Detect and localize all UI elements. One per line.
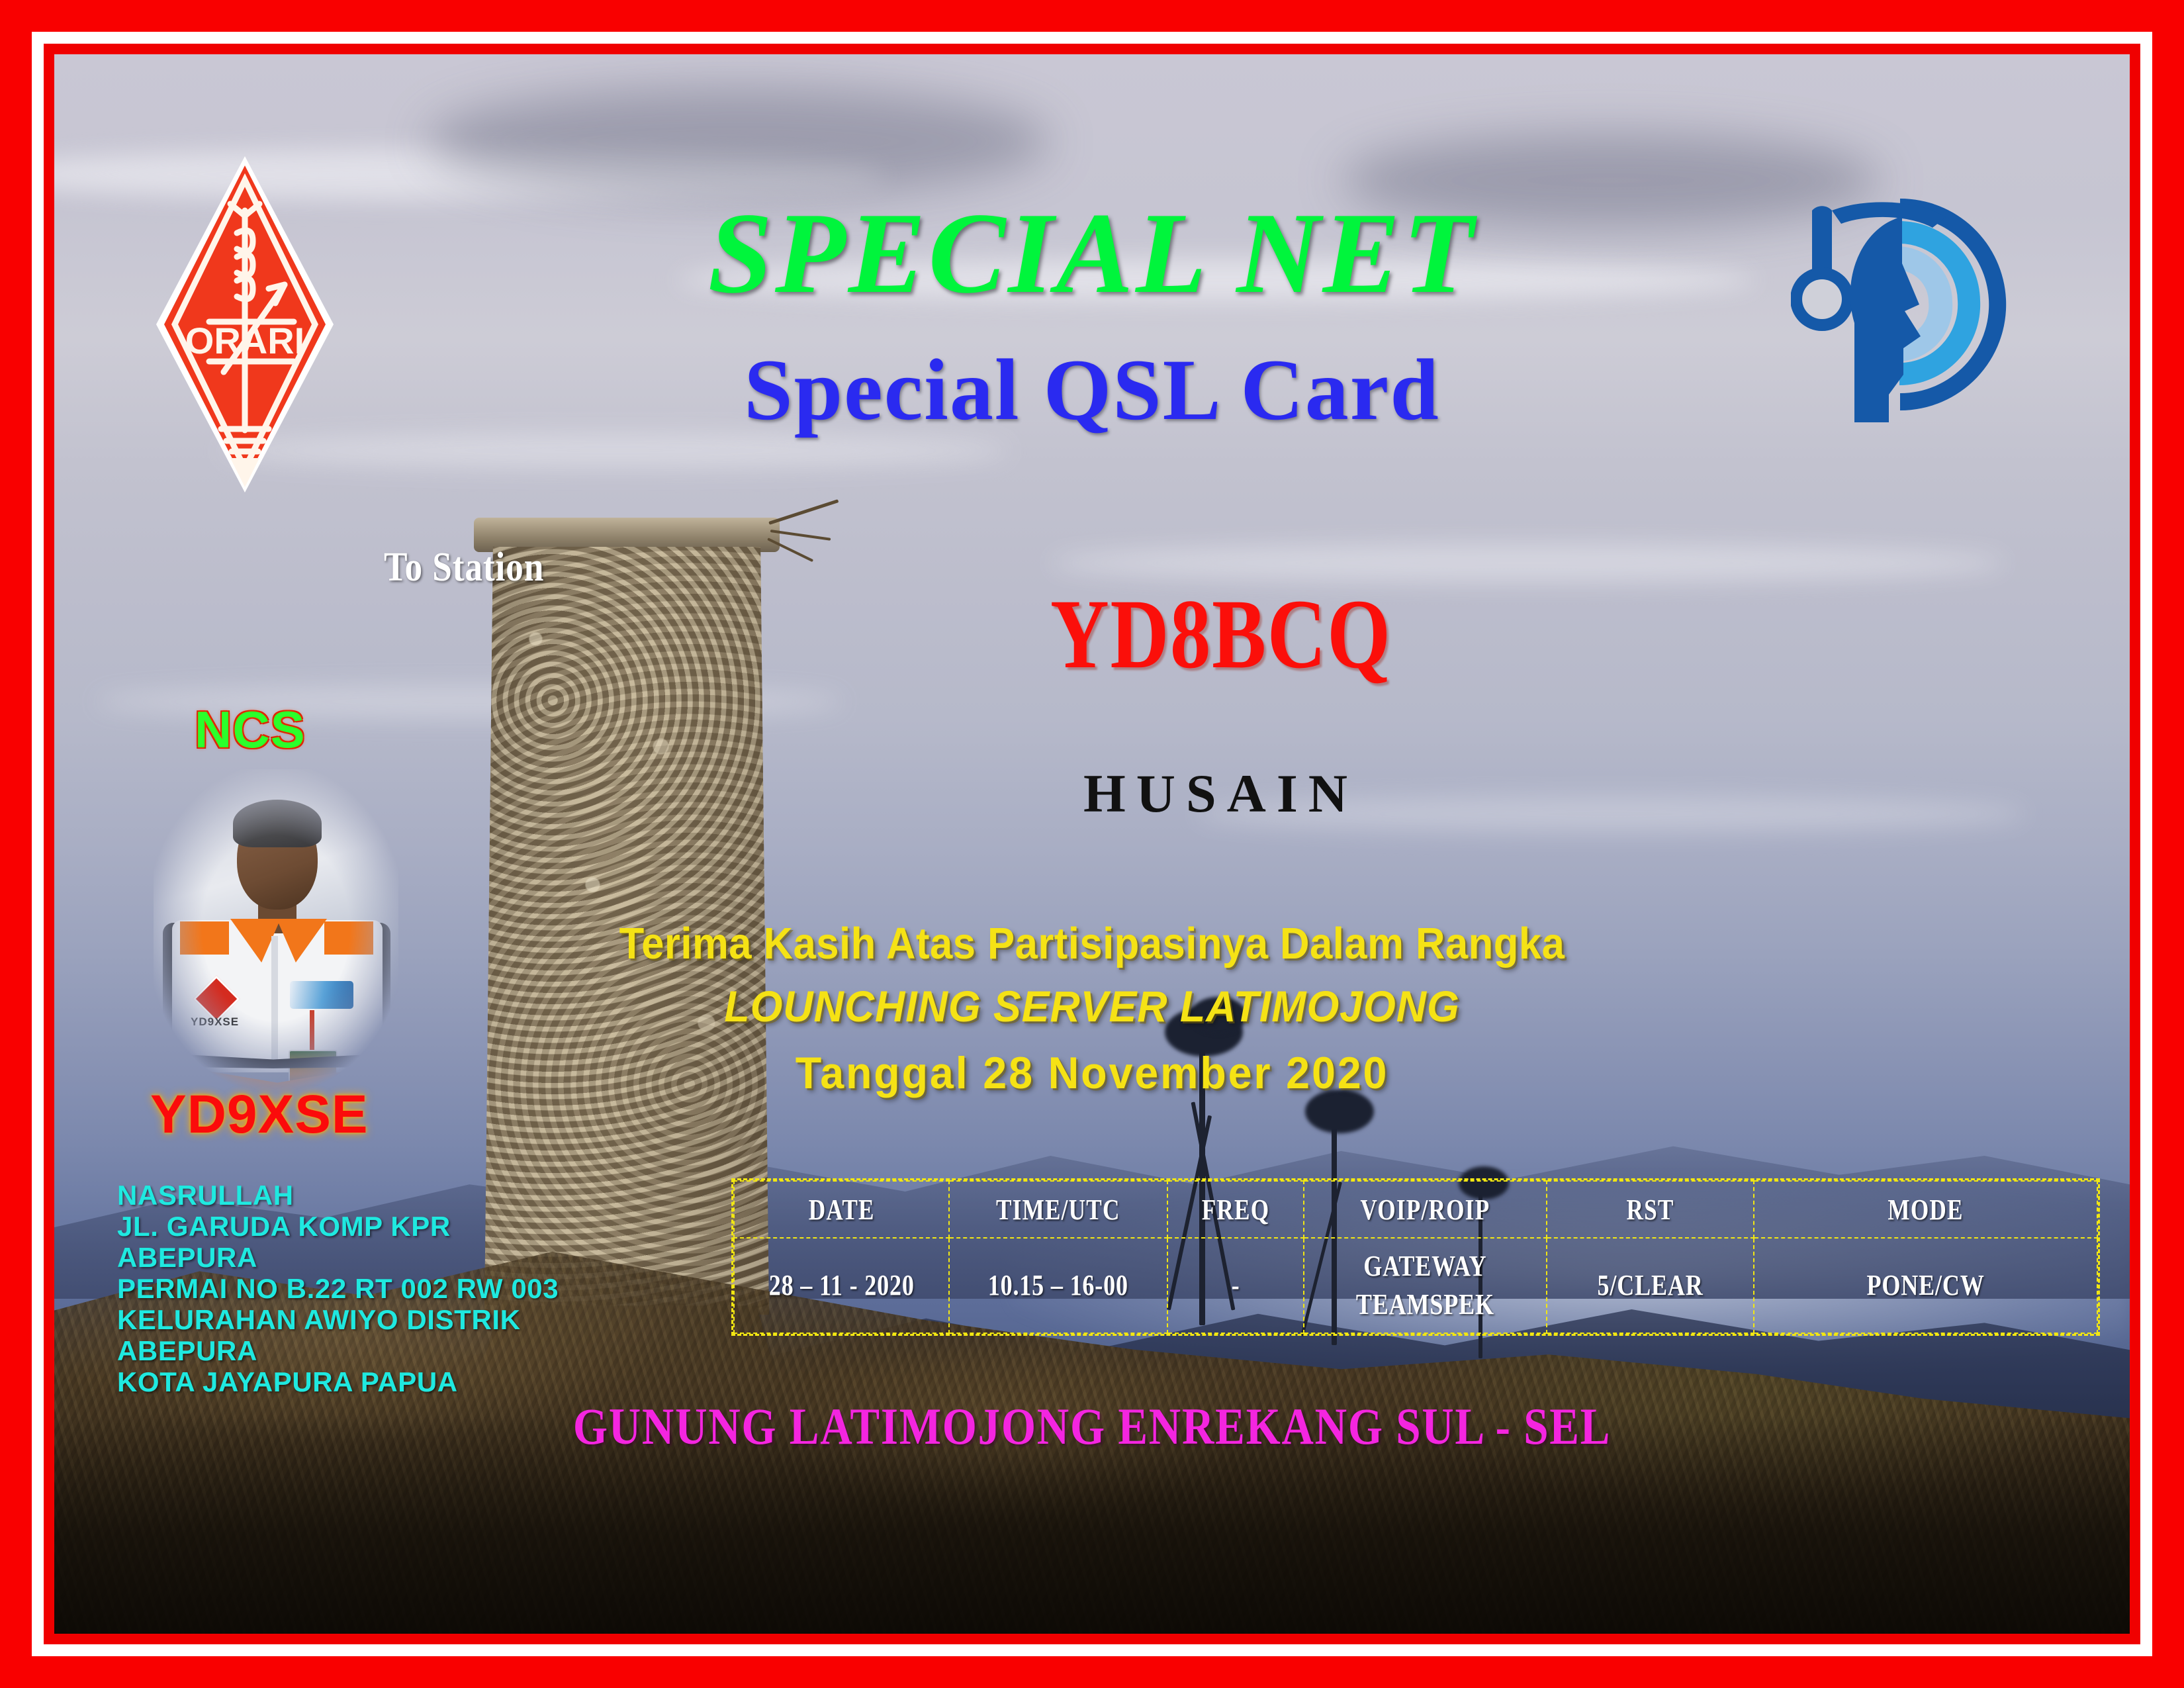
address-line: PERMAI NO B.22 RT 002 RW 003: [117, 1273, 633, 1304]
cell-voip-line1: GATEWAY: [1327, 1247, 1524, 1286]
thanks-line-1: Terima Kasih Atas Partisipasinya Dalam R…: [619, 918, 1565, 969]
column-header-voip: VOIP/ROIP: [1328, 1181, 1522, 1238]
column-header-rst: RST: [1567, 1181, 1733, 1238]
cell-voip-line2: TEAMSPEK: [1327, 1286, 1524, 1324]
qso-details-table: DATE TIME/UTC FREQ VOIP/ROIP RST MODE 28…: [731, 1178, 2100, 1336]
orari-logo-text: ORARI: [185, 320, 304, 361]
cloud-streak: [1050, 544, 2005, 582]
qsl-card: ORARI: [0, 0, 2184, 1688]
ncs-label: NCS: [195, 700, 306, 760]
to-station-label: To Station: [384, 544, 544, 591]
location-line: GUNUNG LATIMOJONG ENREKANG SUL - SEL: [573, 1397, 1611, 1456]
cell-date: 28 – 11 - 2020: [753, 1238, 930, 1333]
recipient-operator-name: HUSAIN: [1083, 763, 1358, 825]
portrait-shoulder: [180, 921, 229, 955]
cell-voip: GATEWAY TEAMSPEK: [1326, 1238, 1525, 1333]
address-line: NASRULLAH: [117, 1180, 633, 1211]
card-photo-area: ORARI: [54, 54, 2130, 1634]
headphone-profile-logo: [1791, 167, 2029, 432]
subtitle: Special QSL Card: [744, 339, 1440, 440]
table-row: 28 – 11 - 2020 10.15 – 16-00 - GATEWAY T…: [734, 1238, 2097, 1333]
column-header-date: DATE: [756, 1181, 928, 1238]
address-line: ABEPURA: [117, 1242, 633, 1273]
column-header-time: TIME/UTC: [971, 1181, 1146, 1238]
address-line: JL. GARUDA KOMP KPR: [117, 1211, 633, 1242]
table-header-row: DATE TIME/UTC FREQ VOIP/ROIP RST MODE: [734, 1181, 2097, 1238]
ncs-callsign: YD9XSE: [150, 1084, 369, 1146]
lanyard: [310, 1010, 314, 1053]
thanks-line-2: LOUNCHING SERVER LATIMOJONG: [724, 981, 1459, 1031]
sky-haze: [428, 86, 1050, 197]
ncs-operator-photo: YD9XSE: [154, 769, 398, 1100]
address-line: ABEPURA: [117, 1335, 633, 1366]
portrait-shoulder: [324, 921, 373, 955]
club-patch: [290, 981, 353, 1009]
cell-mode: PONE/CW: [1785, 1238, 2067, 1333]
address-line: KELURAHAN AWIYO DISTRIK: [117, 1304, 633, 1335]
ncs-address-block: NASRULLAH JL. GARUDA KOMP KPR ABEPURA PE…: [117, 1180, 633, 1397]
cell-time: 10.15 – 16-00: [969, 1238, 1148, 1333]
column-header-freq: FREQ: [1181, 1181, 1291, 1238]
column-header-mode: MODE: [1788, 1181, 2063, 1238]
address-line: KOTA JAYAPURA PAPUA: [117, 1366, 633, 1397]
portrait-shirt-placket: [271, 936, 278, 1068]
cell-freq: -: [1180, 1238, 1292, 1333]
portrait-callsign-embroidery: YD9XSE: [191, 1015, 239, 1029]
portrait-hair: [233, 800, 322, 847]
thanks-line-3: Tanggal 28 November 2020: [796, 1047, 1389, 1099]
orari-diamond-logo: ORARI: [152, 152, 338, 496]
portrait-vignette: YD9XSE: [154, 769, 398, 1100]
cell-rst: 5/CLEAR: [1565, 1238, 1735, 1333]
recipient-callsign: YD8BCQ: [1050, 577, 1392, 691]
page-title: SPECIAL NET: [708, 187, 1477, 320]
